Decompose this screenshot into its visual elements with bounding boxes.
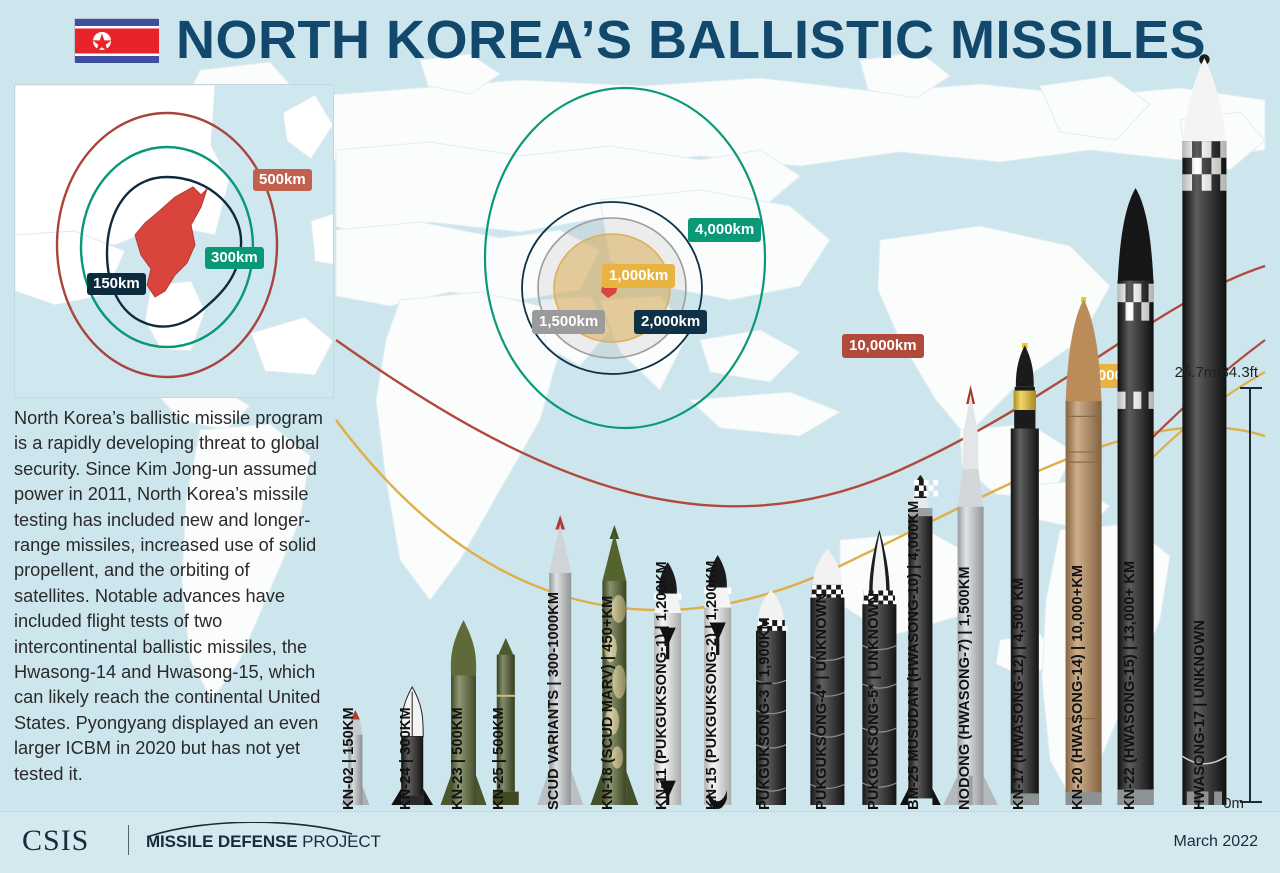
missile-label: KN-17 (HWASONG-12) | 4,500 KM: [1011, 578, 1027, 810]
scale-bottom-label: 0m: [1223, 795, 1244, 812]
missile-lineup: KN-02 | 150KM KN-24 | 300KM KN-23 | 5: [0, 0, 1280, 873]
scale-top-label: 25.7m/84.3ft: [1175, 364, 1258, 381]
missile-label: KN-22 (HWASONG-15) | 13,000+ KM: [1122, 561, 1138, 810]
footer: CSIS MISSILE DEFENSE PROJECT March 2022: [0, 811, 1280, 873]
missile-label: BM-25 MUSUDAN (HWASONG-10) | 4,000KM: [906, 501, 922, 810]
missile-item[interactable]: NODONG (HWASONG-7) | 1,500KM: [942, 390, 999, 810]
missile-item[interactable]: KN-25 | 500KM: [486, 643, 526, 810]
missile-item[interactable]: KN-02 | 150KM: [340, 715, 371, 810]
missile-label: KN-02 | 150KM: [341, 707, 357, 810]
publication-date: March 2022: [1174, 833, 1259, 851]
missile-label: KN-23 | 500KM: [450, 707, 466, 810]
missile-label: KN-11 (PUKGUKSONG-1) | 1,200KM: [654, 561, 670, 810]
missile-label: PUKGUKSONG-5* | UNKNOWN: [866, 593, 882, 810]
missile-label: SCUD VARIANTS | 300-1000KM: [546, 592, 562, 810]
footer-divider: [128, 825, 129, 855]
missile-item[interactable]: SCUD VARIANTS | 300-1000KM: [536, 520, 584, 810]
missile-label: KN-18 (SCUD MARV) | 450+KM: [600, 596, 616, 810]
missile-label: PUKGUKSONG-3 | 1,900KM: [757, 617, 773, 810]
missile-label: NODONG (HWASONG-7) | 1,500KM: [957, 566, 973, 810]
mdp-light: PROJECT: [298, 832, 381, 851]
missile-defense-project-label: MISSILE DEFENSE PROJECT: [146, 832, 381, 852]
missile-label: KN-24 | 300KM: [398, 707, 414, 810]
missile-label: PUKGUKSONG-4* | UNKNOWN: [814, 593, 830, 810]
mdp-bold: MISSILE DEFENSE: [146, 832, 298, 851]
csis-logo: CSIS: [22, 824, 89, 858]
height-scale: 25.7m/84.3ft 0m: [1196, 370, 1266, 810]
infographic-root: NORTH KOREA’S BALLISTIC MISSILES: [0, 0, 1280, 873]
missile-item[interactable]: BM-25 MUSUDAN (HWASONG-10) | 4,000KM: [894, 480, 947, 810]
missile-label: KN-15 (PUKGUKSONG-2) | 1,200KM: [704, 560, 720, 810]
missile-label: KN-25 | 500KM: [491, 707, 507, 810]
missile-item[interactable]: KN-18 (SCUD MARV) | 450+KM: [588, 530, 641, 810]
missile-item[interactable]: KN-23 | 500KM: [436, 625, 491, 810]
missile-label: KN-20 (HWASONG-14) | 10,000+KM: [1070, 565, 1086, 810]
missile-item[interactable]: KN-24 | 300KM: [388, 692, 436, 810]
